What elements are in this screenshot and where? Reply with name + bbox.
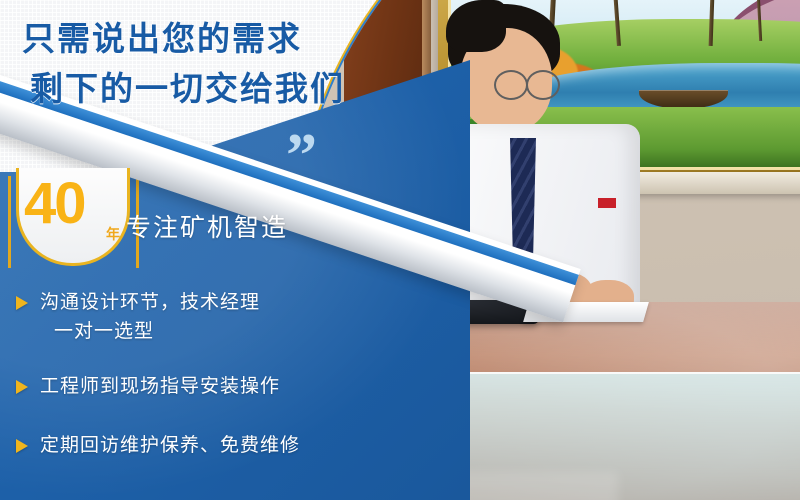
list-item: 定期回访维护保养、免费维修: [14, 431, 314, 460]
arrow-bullet-icon: [16, 380, 28, 394]
badge-year-unit: 年: [106, 224, 120, 244]
headline-line-2: 剩下的一切交给我们: [22, 64, 452, 114]
list-item: 工程师到现场指导安装操作: [14, 372, 314, 401]
quote-mark-icon: ”: [286, 134, 317, 178]
bullet-text-1-line-2: 一对一选型: [40, 317, 314, 346]
bullet-text-3-line-1: 定期回访维护保养、免费维修: [40, 435, 300, 456]
headline: 只需说出您的需求 剩下的一切交给我们: [22, 14, 452, 114]
arrow-bullet-icon: [16, 439, 28, 453]
years-badge: 40 年: [16, 168, 130, 266]
arrow-bullet-icon: [16, 296, 28, 310]
badge-number: 40: [24, 174, 85, 234]
notebook-left: [523, 302, 649, 322]
list-item: 沟通设计环节，技术经理 一对一选型: [14, 288, 314, 346]
bullet-text-2-line-1: 工程师到现场指导安装操作: [40, 376, 280, 397]
promo-banner: 只需说出您的需求 剩下的一切交给我们 ” 40 年 专注矿机智造 沟通设计环节，…: [0, 0, 800, 500]
slogan-text: 专注矿机智造: [126, 208, 288, 244]
gold-accent-left: [8, 176, 11, 268]
bullet-text-1-line-1: 沟通设计环节，技术经理: [40, 292, 260, 313]
headline-line-1: 只需说出您的需求: [22, 14, 452, 64]
feature-list: 沟通设计环节，技术经理 一对一选型 工程师到现场指导安装操作 定期回访维护保养、…: [14, 288, 314, 482]
